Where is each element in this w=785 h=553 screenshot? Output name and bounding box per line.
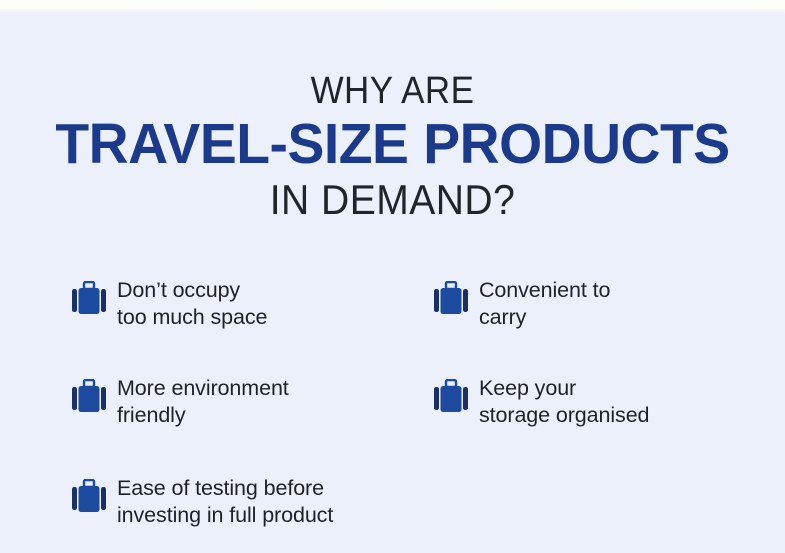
benefit-item-dont-occupy-too-much-space: Don’t occupy too much space: [72, 277, 267, 330]
headline-line-1: WHY ARE: [31, 72, 753, 110]
suitcase-icon: [72, 379, 106, 415]
headline-block: WHY ARE TRAVEL-SIZE PRODUCTS IN DEMAND?: [0, 72, 785, 221]
benefit-item-convenient-to-carry: Convenient to carry: [434, 277, 610, 330]
suitcase-icon: [434, 379, 468, 415]
benefit-row: More environment friendly Keep your stor…: [0, 375, 785, 437]
benefit-row: Don’t occupy too much space Convenient t…: [0, 277, 785, 339]
benefit-label: Keep your storage organised: [479, 375, 649, 428]
benefit-label: More environment friendly: [117, 375, 289, 428]
suitcase-icon: [72, 479, 106, 515]
infographic-poster: WHY ARE TRAVEL-SIZE PRODUCTS IN DEMAND? …: [0, 0, 785, 553]
benefit-item-ease-of-testing-before-investing: Ease of testing before investing in full…: [72, 475, 333, 528]
benefit-label: Convenient to carry: [479, 277, 610, 330]
top-edge-fade: [0, 9, 785, 15]
benefit-label: Don’t occupy too much space: [117, 277, 267, 330]
headline-line-3: IN DEMAND?: [27, 179, 757, 221]
suitcase-icon: [72, 281, 106, 317]
benefit-item-more-environment-friendly: More environment friendly: [72, 375, 289, 428]
benefits-list: Don’t occupy too much space Convenient t…: [0, 277, 785, 553]
top-edge-band: [0, 0, 785, 9]
benefit-item-keep-your-storage-organised: Keep your storage organised: [434, 375, 649, 428]
headline-line-2-accent: TRAVEL-SIZE PRODUCTS: [12, 114, 773, 174]
benefit-row: Ease of testing before investing in full…: [0, 475, 785, 537]
suitcase-icon: [434, 281, 468, 317]
benefit-label: Ease of testing before investing in full…: [117, 475, 333, 528]
